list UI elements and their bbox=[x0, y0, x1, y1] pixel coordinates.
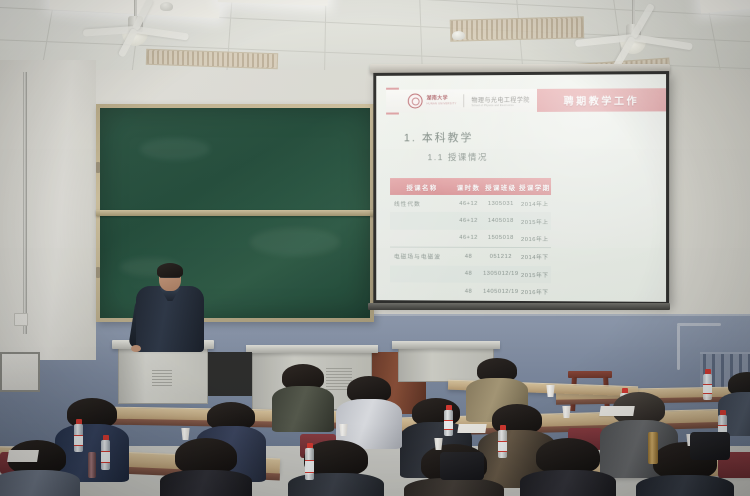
cell-term: 2015年上 bbox=[519, 212, 551, 229]
cell-course-name bbox=[390, 265, 454, 283]
cell-hours: 48 bbox=[454, 247, 483, 265]
wall-pipe bbox=[23, 72, 27, 334]
blackboard-clip bbox=[96, 267, 100, 278]
thermos bbox=[88, 452, 96, 478]
blackboard-center-rail bbox=[96, 210, 374, 216]
teaching-table: 授课名称 课时数 授课班级 授课学期 线性代数 46+12 1305031 20… bbox=[390, 178, 551, 300]
cell-course-name bbox=[390, 229, 454, 247]
slide-content: 湖南大学 HUNAN UNIVERSITY 物理与光电工程学院 School o… bbox=[376, 74, 666, 302]
cell-course-name: 线性代数 bbox=[390, 195, 454, 212]
ceiling-fan bbox=[105, 0, 165, 42]
table-row: 线性代数 46+12 1305031 2014年上 bbox=[390, 195, 551, 212]
wall-switch[interactable] bbox=[14, 313, 28, 326]
projected-slide: 湖南大学 HUNAN UNIVERSITY 物理与光电工程学院 School o… bbox=[376, 74, 666, 302]
projector-screen: 湖南大学 HUNAN UNIVERSITY 物理与光电工程学院 School o… bbox=[373, 71, 669, 305]
audience-member bbox=[272, 364, 334, 426]
col-class: 授课班级 bbox=[483, 178, 519, 195]
cell-hours: 48 bbox=[454, 283, 483, 300]
cell-hours: 46+12 bbox=[454, 195, 483, 212]
table-row: 48 1305012/19 2015年下 bbox=[390, 265, 551, 283]
teaching-cabinet-top bbox=[246, 345, 378, 353]
school-name-en: School of Physics and Electronics bbox=[471, 103, 529, 106]
slide-title-banner: 聘期教学工作 bbox=[537, 88, 666, 112]
cell-class: 1505018 bbox=[483, 230, 519, 248]
cell-term: 2015年下 bbox=[519, 265, 551, 283]
cell-class: 1305031 bbox=[483, 195, 519, 212]
podium-vent bbox=[152, 368, 172, 386]
cell-course-name bbox=[390, 212, 454, 229]
cell-hours: 46+12 bbox=[454, 212, 483, 229]
presenter-hair bbox=[157, 263, 183, 278]
teaching-cabinet-top bbox=[392, 341, 500, 349]
table-row: 46+12 1505018 2016年上 bbox=[390, 229, 551, 247]
water-bottle bbox=[305, 448, 314, 480]
cell-term: 2016年上 bbox=[519, 230, 551, 248]
bag bbox=[440, 452, 484, 480]
presenter-hand bbox=[131, 345, 141, 352]
cell-course-name bbox=[390, 282, 454, 300]
table-row: 46+12 1405018 2015年上 bbox=[390, 212, 551, 230]
cell-term: 2014年下 bbox=[519, 248, 551, 266]
water-bottle bbox=[498, 430, 507, 458]
document bbox=[599, 406, 635, 416]
document bbox=[7, 450, 39, 462]
cell-hours: 46+12 bbox=[454, 230, 483, 248]
audience-member bbox=[0, 440, 80, 496]
water-bottle bbox=[703, 374, 712, 400]
screen-bottom-rail bbox=[368, 303, 670, 310]
ceiling-fan bbox=[598, 0, 668, 48]
slide-banner-title: 聘期教学工作 bbox=[564, 92, 640, 107]
cell-class: 051212 bbox=[483, 248, 519, 266]
radiator-pipe bbox=[677, 323, 721, 326]
slide-header: 湖南大学 HUNAN UNIVERSITY 物理与光电工程学院 School o… bbox=[386, 88, 666, 112]
bag bbox=[690, 432, 730, 460]
water-bottle bbox=[444, 410, 453, 436]
ceiling-vent bbox=[450, 16, 585, 42]
table-row: 电磁场与电磁波 48 051212 2014年下 bbox=[390, 247, 551, 265]
radiator-pipe bbox=[677, 325, 680, 370]
blackboard bbox=[96, 104, 374, 322]
col-term: 授课学期 bbox=[519, 178, 551, 195]
col-hours: 课时数 bbox=[454, 178, 483, 195]
wall-whiteboard bbox=[0, 352, 40, 392]
cell-hours: 48 bbox=[454, 265, 483, 282]
podium-cable-gap bbox=[208, 352, 252, 396]
audience-member bbox=[288, 440, 384, 496]
cell-class: 1305012/19 bbox=[483, 265, 519, 283]
table-row: 48 1405012/19 2016年下 bbox=[390, 282, 551, 300]
table-header-row: 授课名称 课时数 授课班级 授课学期 bbox=[390, 178, 551, 195]
cell-term: 2016年下 bbox=[519, 283, 551, 301]
university-seal-icon bbox=[408, 94, 423, 109]
water-bottle bbox=[74, 424, 83, 452]
col-course-name: 授课名称 bbox=[390, 178, 454, 195]
audience-member bbox=[160, 438, 252, 496]
blackboard-clip bbox=[96, 162, 100, 173]
cell-class: 1405012/19 bbox=[483, 283, 519, 301]
university-branding: 湖南大学 HUNAN UNIVERSITY 物理与光电工程学院 School o… bbox=[386, 89, 537, 113]
cell-class: 1405018 bbox=[483, 212, 519, 229]
document bbox=[457, 424, 486, 433]
glasses-icon bbox=[160, 277, 180, 281]
university-name-en: HUNAN UNIVERSITY bbox=[427, 102, 457, 105]
slide-heading: 1. 本科教学 bbox=[404, 129, 474, 145]
brand-divider bbox=[464, 94, 465, 107]
cell-course-name: 电磁场与电磁波 bbox=[390, 247, 454, 265]
water-bottle bbox=[101, 440, 110, 470]
cell-term: 2014年上 bbox=[519, 195, 551, 212]
thermos bbox=[648, 432, 658, 464]
smoke-detector-icon bbox=[452, 31, 465, 40]
slide-subheading: 1.1 授课情况 bbox=[428, 151, 489, 163]
lecture-hall-scene: 湖南大学 HUNAN UNIVERSITY 物理与光电工程学院 School o… bbox=[0, 0, 750, 496]
audience-member bbox=[520, 438, 616, 496]
school-name-cn: 物理与光电工程学院 bbox=[471, 94, 529, 103]
